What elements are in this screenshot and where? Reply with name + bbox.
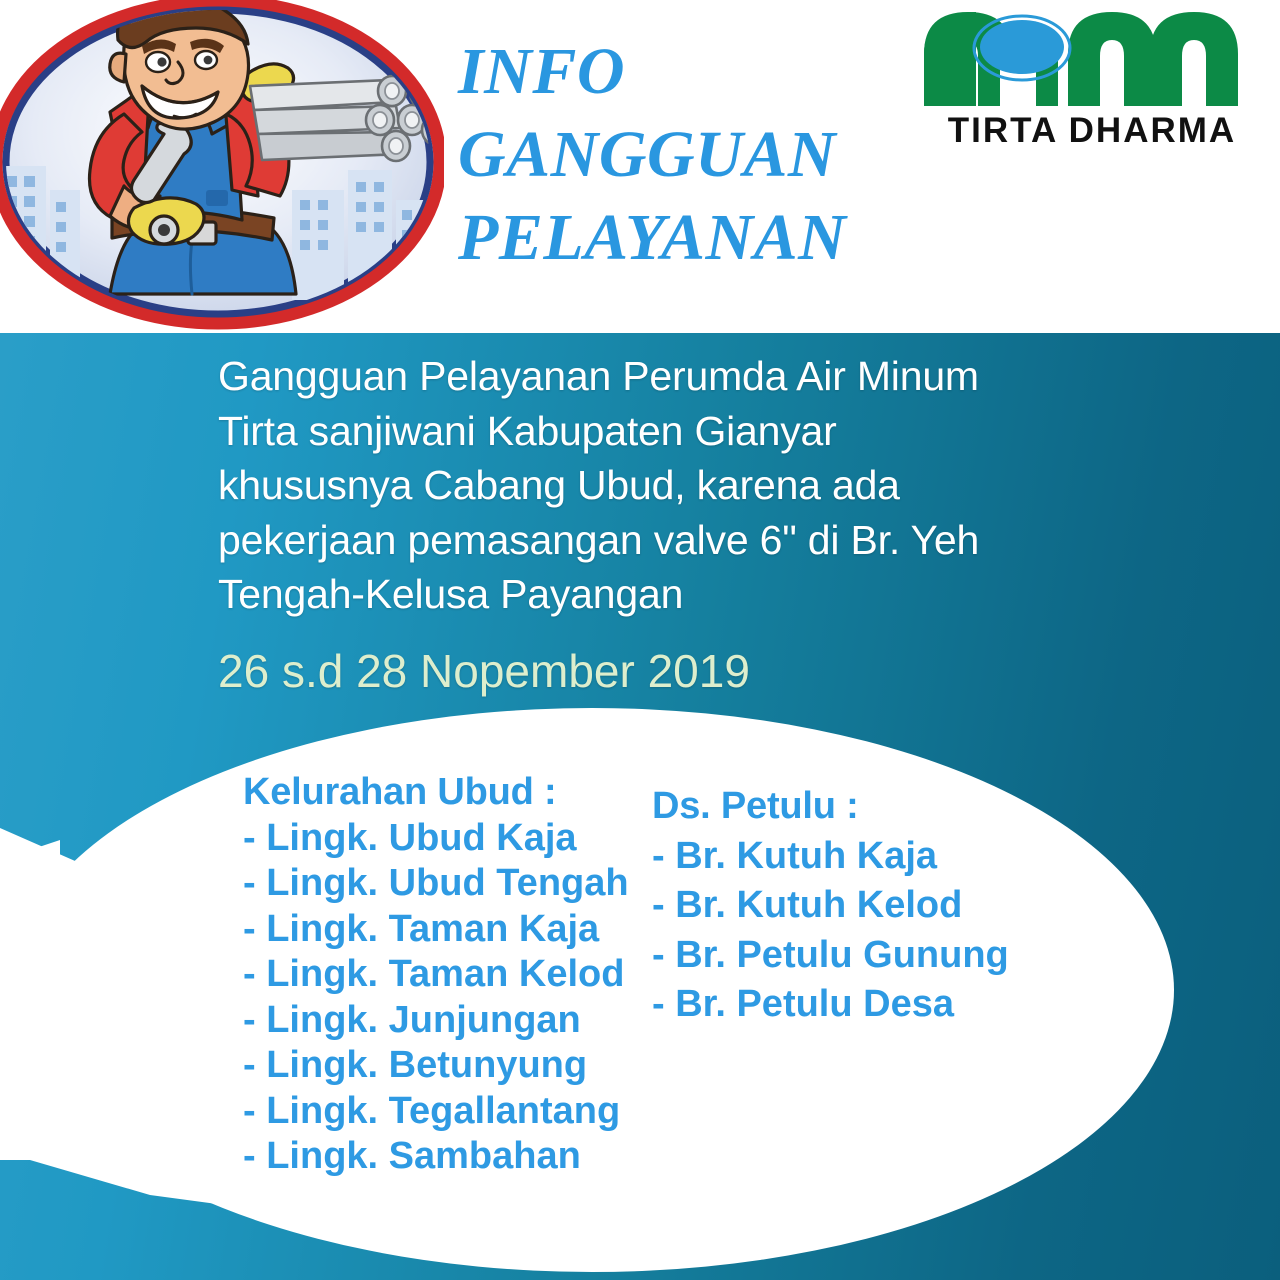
affected-areas-left-group: Kelurahan Ubud : - Lingk. Ubud Kaja - Li… (243, 770, 629, 1180)
headline-line-1: INFO (458, 30, 908, 113)
plumber-mascot-badge (0, 0, 444, 330)
headline-line-2: GANGGUAN (458, 113, 908, 196)
group-title: Ds. Petulu : (652, 782, 1009, 832)
logo-wordmark: TIRTA DHARMA (948, 111, 1236, 150)
list-item: - Lingk. Ubud Kaja (243, 816, 629, 862)
plumber-eye-right-pupil (204, 56, 213, 65)
poster-canvas: INFO GANGGUAN PELAYANAN TIRTA DHARMA (0, 0, 1280, 1280)
list-item: - Lingk. Tegallantang (243, 1089, 629, 1135)
tirta-dharma-logo: TIRTA DHARMA (918, 2, 1266, 150)
page-title: INFO GANGGUAN PELAYANAN (458, 30, 908, 279)
plumber-eye-left-pupil (157, 57, 166, 66)
paragraph-line: Tengah-Kelusa Payangan (218, 567, 1098, 622)
list-item: - Br. Petulu Gunung (652, 931, 1009, 981)
paragraph-line: khususnya Cabang Ubud, karena ada (218, 458, 1098, 513)
paragraph-line: pekerjaan pemasangan valve 6" di Br. Yeh (218, 513, 1098, 568)
list-item: - Br. Kutuh Kaja (652, 832, 1009, 882)
list-item: - Br. Petulu Desa (652, 980, 1009, 1030)
group-title: Kelurahan Ubud : (243, 770, 629, 816)
paragraph-line: Gangguan Pelayanan Perumda Air Minum (218, 349, 1098, 404)
affected-areas: Kelurahan Ubud : - Lingk. Ubud Kaja - Li… (0, 690, 1280, 1280)
affected-areas-right-group: Ds. Petulu : - Br. Kutuh Kaja - Br. Kutu… (652, 782, 1009, 1030)
list-item: - Lingk. Taman Kaja (243, 907, 629, 953)
list-item: - Lingk. Betunyung (243, 1043, 629, 1089)
list-item: - Br. Kutuh Kelod (652, 881, 1009, 931)
paragraph-line: Tirta sanjiwani Kabupaten Gianyar (218, 404, 1098, 459)
announcement-paragraph: Gangguan Pelayanan Perumda Air Minum Tir… (218, 349, 1098, 622)
list-item: - Lingk. Sambahan (243, 1134, 629, 1180)
headline-line-3: PELAYANAN (458, 196, 908, 279)
list-item: - Lingk. Junjungan (243, 998, 629, 1044)
list-item: - Lingk. Taman Kelod (243, 952, 629, 998)
list-item: - Lingk. Ubud Tengah (243, 861, 629, 907)
arches-icon (924, 12, 1238, 106)
